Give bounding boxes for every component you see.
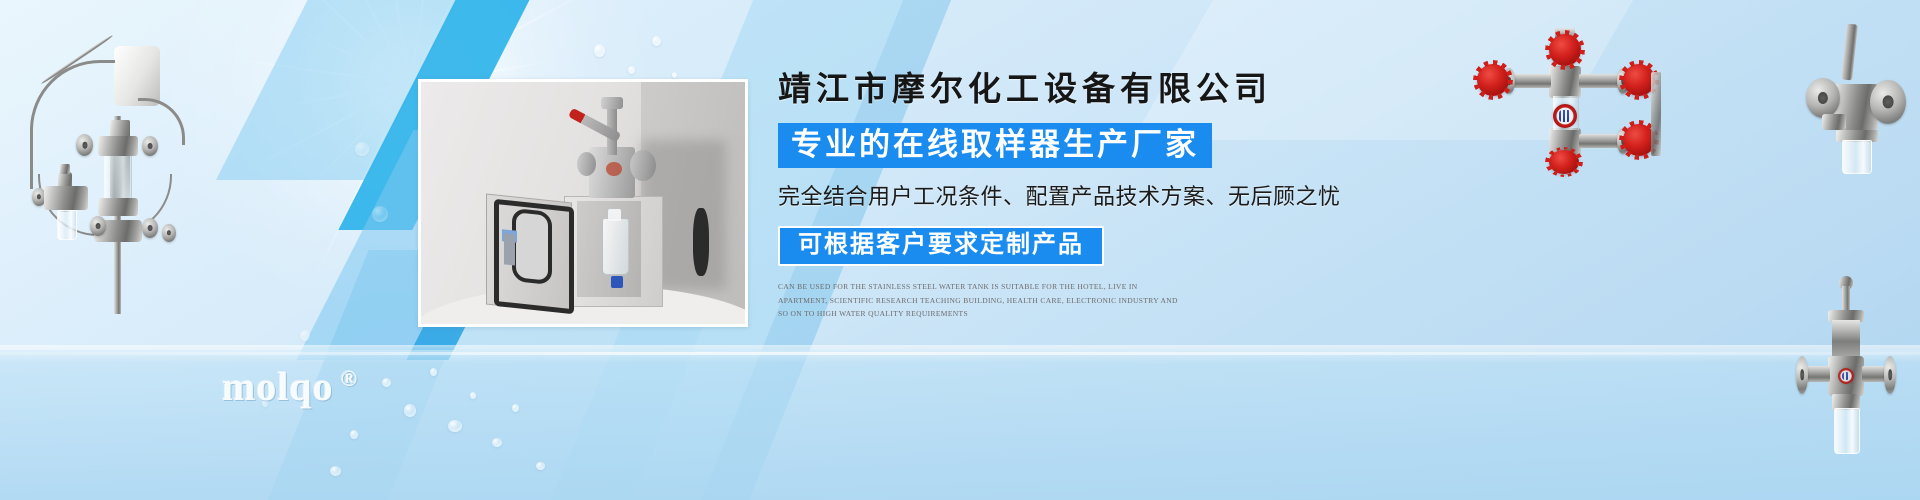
bonnet-column	[1832, 320, 1860, 356]
sight-glass-tube	[104, 154, 132, 200]
promotional-banner: 靖江市摩尔化工设备有限公司 专业的在线取样器生产厂家 完全结合用户工况条件、配置…	[0, 0, 1920, 500]
relief-valve-cap	[60, 164, 70, 174]
sub-headline: 完全结合用户工况条件、配置产品技术方案、无后顾之忧	[778, 184, 1398, 210]
headline-banner: 专业的在线取样器生产厂家	[778, 123, 1212, 168]
flange-right-upper	[142, 136, 158, 156]
handwheel-top	[1549, 34, 1581, 66]
water-droplet	[300, 330, 310, 341]
photo-door-key	[504, 234, 515, 267]
photo-door-window	[512, 208, 552, 286]
water-droplet	[404, 404, 416, 417]
electronic-housing	[114, 46, 160, 106]
valve-body-upper	[98, 136, 138, 156]
water-droplet	[430, 368, 437, 376]
water-droplet	[628, 66, 635, 74]
water-droplet	[355, 142, 369, 156]
flange-left	[1796, 356, 1808, 394]
registered-trademark-icon: ®	[341, 366, 358, 391]
water-droplet	[594, 44, 605, 57]
flange-right-lower	[142, 218, 158, 238]
tubing-arc-left	[30, 60, 115, 189]
right-product-bottom-valve	[1798, 272, 1920, 478]
flange-far-right	[162, 224, 176, 242]
water-droplet	[512, 404, 519, 412]
water-droplet	[470, 392, 476, 399]
photo-blue-cap	[611, 276, 624, 288]
inline-block-left	[44, 186, 88, 210]
left-product-sampler-assembly	[10, 24, 200, 314]
water-droplet	[536, 462, 545, 470]
photo-sample-bottle	[602, 218, 628, 276]
sample-bottle	[57, 210, 77, 240]
water-droplet	[372, 206, 388, 222]
horizon-line	[0, 352, 1920, 355]
custom-product-pill: 可根据客户要求定制产品	[778, 226, 1104, 266]
right-product-handwheel-valve-assembly	[1465, 28, 1675, 160]
flange-right	[1870, 80, 1906, 124]
collection-bottle	[1834, 408, 1860, 454]
watermark-text: molqo	[222, 364, 334, 409]
actuator-stub	[1822, 114, 1846, 130]
water-droplet	[672, 72, 677, 78]
cross-body-upper	[1549, 66, 1581, 98]
photo-valve-logo	[606, 162, 622, 177]
right-product-lever-valve	[1800, 22, 1920, 192]
water-droplet	[350, 430, 358, 439]
handwheel-bottom	[1549, 150, 1579, 174]
sample-jar	[1842, 140, 1872, 174]
water-droplet	[448, 420, 462, 432]
water-sheen	[0, 345, 1920, 363]
lever-handle	[1841, 24, 1858, 81]
side-bracket	[1651, 72, 1661, 156]
arm-right-upper	[1579, 74, 1619, 88]
arm-right-lower	[1579, 134, 1619, 148]
company-name: 靖江市摩尔化工设备有限公司	[778, 74, 1398, 107]
flange-left	[1806, 78, 1840, 118]
handwheel-left	[1477, 64, 1509, 96]
flange-left-lower	[90, 216, 106, 236]
flange-left-upper	[76, 134, 93, 156]
valve-body-lower	[98, 198, 138, 216]
water-droplet	[330, 466, 341, 476]
text-block: 靖江市摩尔化工设备有限公司 专业的在线取样器生产厂家 完全结合用户工况条件、配置…	[778, 74, 1398, 320]
photo-cabinet-handle	[693, 208, 709, 276]
center-product-photo	[418, 79, 748, 327]
english-description: CAN BE USED FOR THE STAINLESS STEEL WATE…	[778, 280, 1178, 319]
water-droplet	[652, 36, 661, 46]
brand-medallion	[1553, 104, 1577, 128]
arm-left-upper	[1513, 74, 1551, 88]
water-droplet	[382, 378, 391, 387]
body-medallion	[1838, 368, 1854, 384]
brand-watermark: molqo®	[222, 363, 358, 410]
flange-right	[1884, 356, 1896, 394]
water-droplet	[492, 438, 502, 447]
